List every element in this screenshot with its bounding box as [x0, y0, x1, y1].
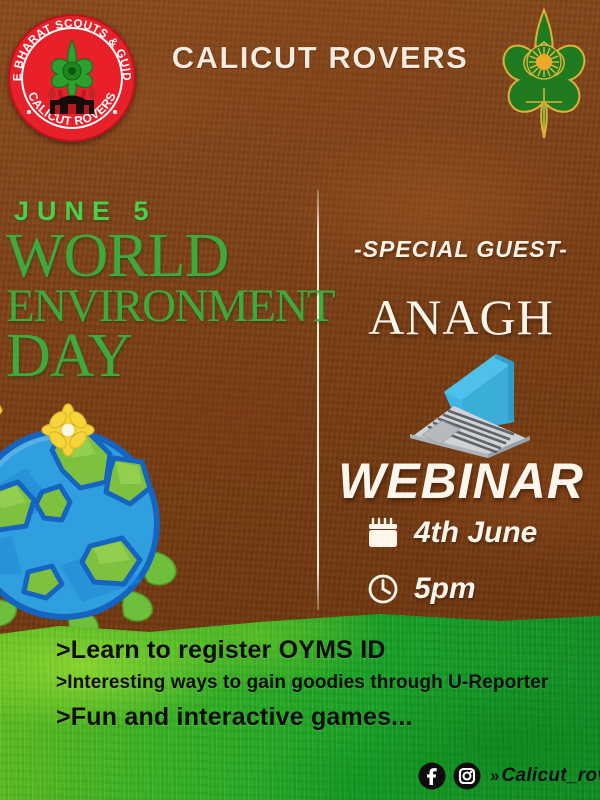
event-time-row: 5pm [366, 572, 476, 606]
special-guest-label: -SPECIAL GUEST- [330, 236, 592, 263]
event-date-row: 4th June [366, 516, 537, 550]
event-time-value: 5pm [414, 572, 476, 606]
laptop-illustration [392, 348, 532, 460]
guest-name: ANAGH [330, 288, 592, 346]
social-chevrons: » [490, 766, 497, 786]
poster-header: THE BHARAT SCOUTS & GUIDES CALICUT ROVER… [0, 0, 600, 150]
bharat-scouts-guides-logo: THE BHARAT SCOUTS & GUIDES CALICUT ROVER… [8, 14, 136, 142]
agenda-item-3: >Fun and interactive games... [56, 703, 536, 732]
event-type-label: WEBINAR [330, 452, 592, 510]
facebook-icon[interactable] [418, 762, 446, 790]
column-divider [317, 190, 319, 610]
laptop-icon [392, 348, 532, 460]
calendar-icon [366, 516, 400, 550]
poster-root: THE BHARAT SCOUTS & GUIDES CALICUT ROVER… [0, 0, 600, 800]
earth-globe-illustration [0, 396, 194, 636]
page-title: WORLD ENVIRONMENT DAY [6, 228, 316, 385]
logo-scout-emblem-icon [38, 38, 106, 118]
scout-fleur-de-lis-icon [496, 4, 592, 144]
instagram-icon[interactable] [453, 762, 481, 790]
earth-globe-icon [0, 396, 194, 636]
organization-title: CALICUT ROVERS [150, 40, 490, 76]
agenda-list: >Learn to register OYMS ID >Interesting … [56, 636, 536, 732]
social-handle: Calicut_rovers [501, 765, 600, 787]
clock-icon [366, 572, 400, 606]
agenda-item-1: >Learn to register OYMS ID [56, 636, 536, 665]
title-line-3: DAY [6, 328, 316, 385]
event-date-value: 4th June [414, 516, 537, 550]
floating-leaf-icon [0, 402, 2, 419]
title-line-1: WORLD [6, 228, 316, 285]
social-handles: » Calicut_rovers [418, 762, 600, 790]
agenda-item-2: >Interesting ways to gain goodies throug… [56, 672, 536, 694]
